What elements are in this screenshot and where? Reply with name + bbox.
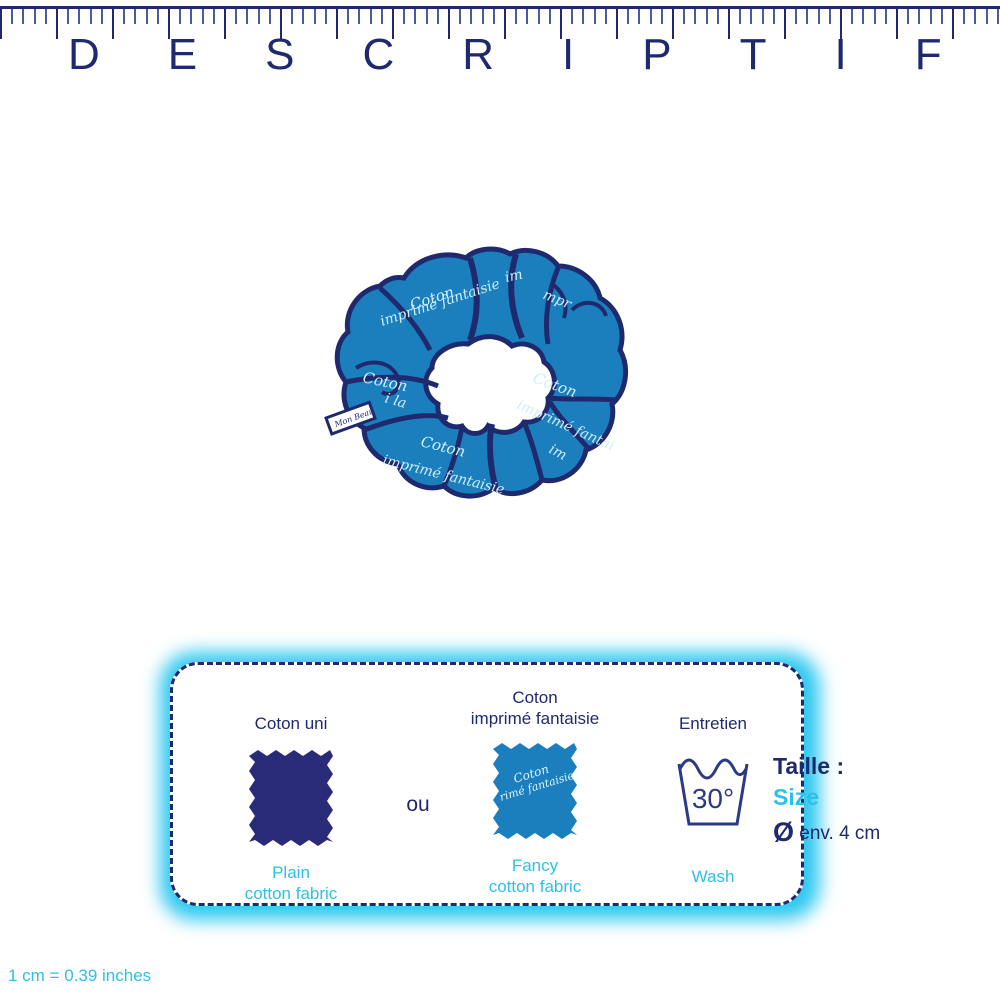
plain-fabric-title: Coton uni <box>191 713 391 734</box>
ruler-header: DESCRIPTIF <box>0 0 1000 90</box>
ruler-tick-minor <box>627 9 629 24</box>
ruler-tick-minor <box>806 9 808 24</box>
ruler-tick-minor <box>638 9 640 24</box>
ruler-tick-minor <box>437 9 439 24</box>
ruler-tick-minor <box>907 9 909 24</box>
ruler-tick-minor <box>582 9 584 24</box>
plain-fabric-swatch[interactable] <box>241 748 341 848</box>
unit-conversion-note: 1 cm = 0.39 inches <box>8 966 151 986</box>
ruler-tick-minor <box>78 9 80 24</box>
ruler-tick-minor <box>67 9 69 24</box>
column-fancy-fabric: Coton imprimé fantaisie Coton rimé fanta… <box>435 687 635 897</box>
ruler-tick-minor <box>22 9 24 24</box>
ruler-tick-minor <box>605 9 607 24</box>
ruler-tick-minor <box>426 9 428 24</box>
ruler-tick-minor <box>202 9 204 24</box>
ruler-tick-minor <box>325 9 327 24</box>
ruler-tick-minor <box>11 9 13 24</box>
ruler-tick-minor <box>918 9 920 24</box>
wash-basin-icon: 30° <box>667 752 759 832</box>
fancy-fabric-title-line2: imprimé fantaisie <box>435 708 635 729</box>
ruler-tick-minor <box>874 9 876 24</box>
ruler-tick-minor <box>717 9 719 24</box>
fancy-fabric-footer-line1: Fancy <box>435 855 635 876</box>
ruler-tick-minor <box>963 9 965 24</box>
size-value: env. 4 cm <box>799 823 880 844</box>
ruler-tick-minor <box>470 9 472 24</box>
ruler-tick-minor <box>358 9 360 24</box>
ruler-tick-minor <box>314 9 316 24</box>
ruler-tick-minor <box>773 9 775 24</box>
ruler-tick-minor <box>829 9 831 24</box>
diameter-icon: Ø <box>773 817 794 847</box>
ruler-tick-minor <box>974 9 976 24</box>
ruler-tick-minor <box>818 9 820 24</box>
ruler-tick-minor <box>482 9 484 24</box>
ruler-tick-minor <box>762 9 764 24</box>
wash-temperature: 30° <box>692 783 734 814</box>
ruler-tick-minor <box>246 9 248 24</box>
product-illustration-scrunchie: Coton imprimé fantaisie im mpr Coton i l… <box>320 240 660 530</box>
ruler-tick-minor <box>549 9 551 24</box>
page-title: DESCRIPTIF <box>0 30 1000 80</box>
ruler-tick-minor <box>235 9 237 24</box>
ruler-tick-minor <box>930 9 932 24</box>
ruler-tick-minor <box>795 9 797 24</box>
ruler-tick-minor <box>269 9 271 24</box>
ruler-tick-minor <box>179 9 181 24</box>
size-label-en: Size <box>773 784 983 811</box>
ruler-tick-minor <box>157 9 159 24</box>
ruler-tick-minor <box>302 9 304 24</box>
ruler-tick-minor <box>515 9 517 24</box>
care-title: Entretien <box>623 713 803 734</box>
ruler-tick-minor <box>381 9 383 24</box>
ruler-tick-minor <box>571 9 573 24</box>
ruler-tick-minor <box>986 9 988 24</box>
fancy-fabric-footer-line2: cotton fabric <box>435 876 635 897</box>
fancy-fabric-title-line1: Coton <box>435 687 635 708</box>
ruler-tick-minor <box>258 9 260 24</box>
size-label-fr: Taille : <box>773 753 983 780</box>
ruler-tick-minor <box>213 9 215 24</box>
ruler-tick-minor <box>90 9 92 24</box>
ruler-tick-minor <box>885 9 887 24</box>
info-panel-border: Coton uni Plain cotton fabric ou Coton i… <box>170 662 804 906</box>
ruler-tick-minor <box>851 9 853 24</box>
plain-fabric-footer-line1: Plain <box>191 862 391 883</box>
ruler-tick-minor <box>123 9 125 24</box>
ruler-tick-minor <box>34 9 36 24</box>
ruler-tick-minor <box>347 9 349 24</box>
product-info-panel: Coton uni Plain cotton fabric ou Coton i… <box>160 652 820 920</box>
ruler-tick-minor <box>414 9 416 24</box>
care-footer: Wash <box>623 866 803 887</box>
column-plain-fabric: Coton uni Plain cotton fabric <box>191 713 391 904</box>
ruler-tick-minor <box>526 9 528 24</box>
ruler-tick-minor <box>101 9 103 24</box>
ruler-tick-minor <box>683 9 685 24</box>
column-size: Taille : Size Ø env. 4 cm <box>773 753 983 848</box>
ruler-tick-minor <box>941 9 943 24</box>
ruler-tick-minor <box>694 9 696 24</box>
plain-fabric-footer-line2: cotton fabric <box>191 883 391 904</box>
ruler-tick-minor <box>739 9 741 24</box>
ruler-tick-minor <box>134 9 136 24</box>
ruler-tick-minor <box>997 9 999 24</box>
ruler-tick-minor <box>493 9 495 24</box>
ruler-tick-minor <box>862 9 864 24</box>
ruler-tick-minor <box>538 9 540 24</box>
scrunchie-body: Coton imprimé fantaisie im mpr Coton i l… <box>326 249 626 498</box>
ruler-tick-minor <box>190 9 192 24</box>
ruler-tick-minor <box>706 9 708 24</box>
ruler-tick-minor <box>291 9 293 24</box>
ruler-tick-minor <box>146 9 148 24</box>
ruler-tick-minor <box>661 9 663 24</box>
ruler-tick-minor <box>594 9 596 24</box>
size-value-row: Ø env. 4 cm <box>773 817 983 848</box>
ruler-tick-minor <box>370 9 372 24</box>
ruler-tick-minor <box>403 9 405 24</box>
ruler-tick-minor <box>650 9 652 24</box>
fancy-fabric-swatch[interactable]: Coton rimé fantaisie <box>485 741 585 841</box>
ruler-tick-minor <box>750 9 752 24</box>
ruler-tick-minor <box>45 9 47 24</box>
ruler-tick-minor <box>459 9 461 24</box>
